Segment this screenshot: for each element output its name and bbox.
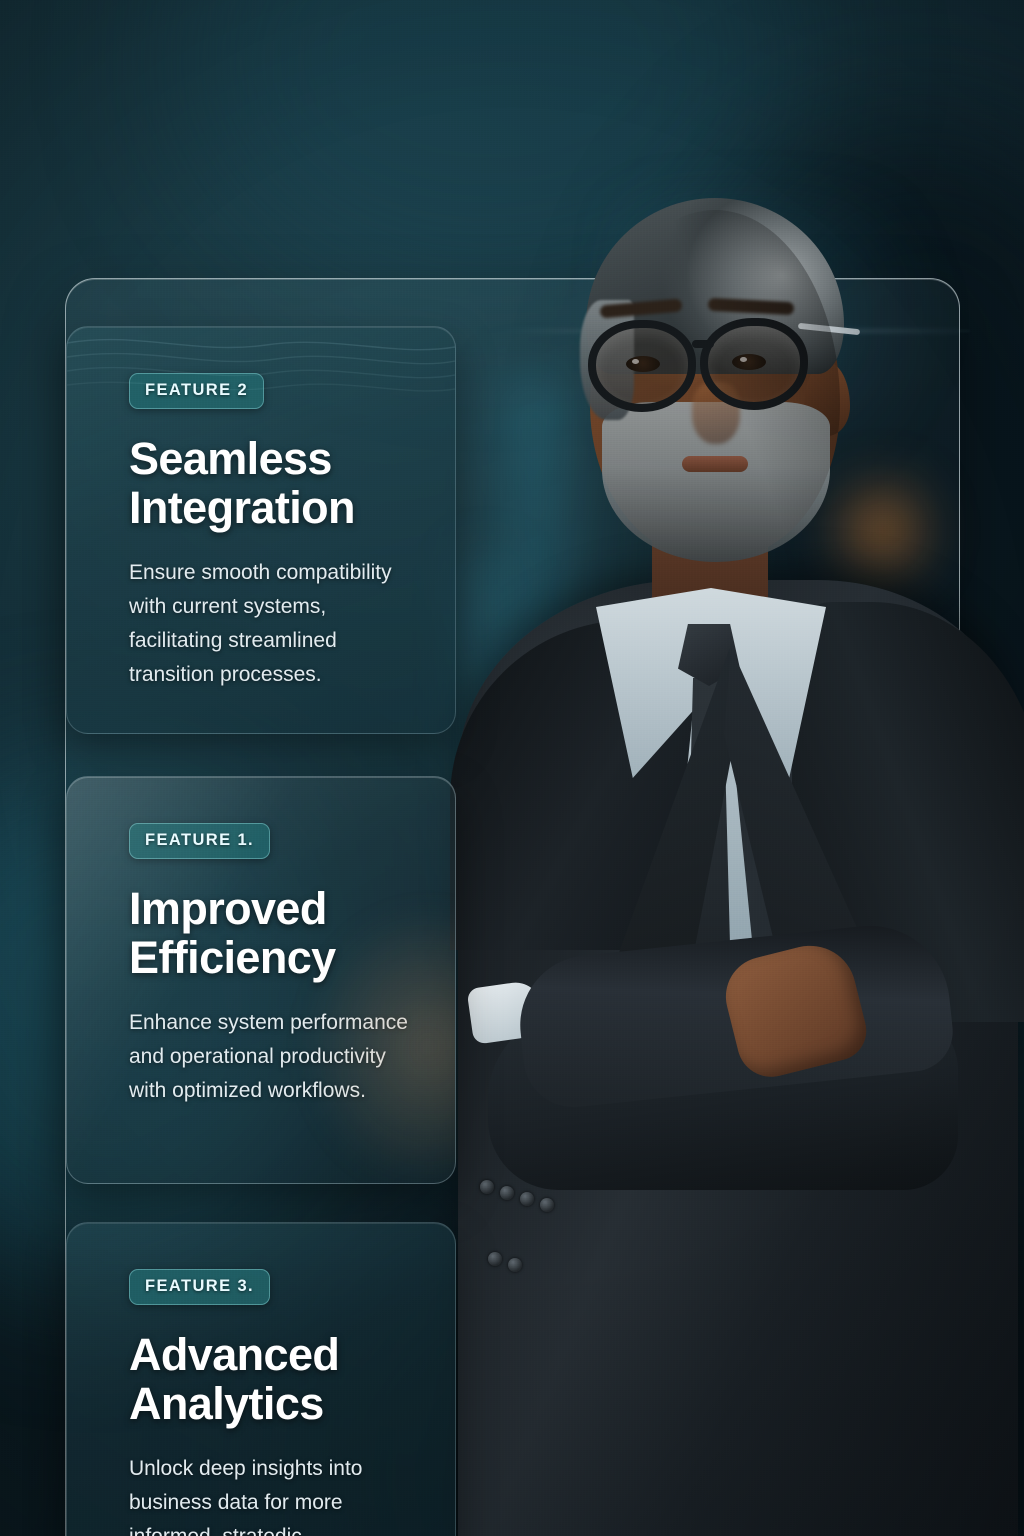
feature-card-advanced-analytics[interactable]: FEATURE 3. Advanced Analytics Unlock dee… [66,1222,456,1536]
feature-title-line-1: Seamless [129,435,415,484]
feature-title-line-1: Advanced [129,1331,415,1380]
feature-title: Advanced Analytics [129,1331,415,1428]
feature-title: Improved Efficiency [129,885,415,982]
feature-card-improved-efficiency[interactable]: FEATURE 1. Improved Efficiency Enhance s… [66,776,456,1184]
feature-title-line-1: Improved [129,885,415,934]
feature-card-seamless-integration[interactable]: FEATURE 2 Seamless Integration Ensure sm… [66,326,456,734]
feature-title: Seamless Integration [129,435,415,532]
feature-title-line-2: Integration [129,484,415,533]
feature-badge: FEATURE 1. [129,823,270,859]
poster-canvas: FEATURE 2 Seamless Integration Ensure sm… [0,0,1024,1536]
feature-badge: FEATURE 2 [129,373,264,409]
feature-title-line-2: Efficiency [129,934,415,983]
feature-title-line-2: Analytics [129,1380,415,1429]
feature-badge: FEATURE 3. [129,1269,270,1305]
feature-description: Unlock deep insights into business data … [129,1452,415,1536]
feature-description: Ensure smooth compatibility with current… [129,556,415,692]
feature-description: Enhance system performance and operation… [129,1006,415,1108]
